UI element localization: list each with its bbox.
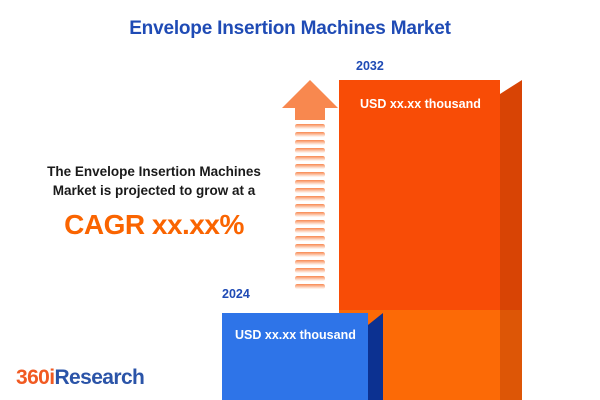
cagr-statement-line1: The Envelope Insertion Machines bbox=[47, 164, 261, 179]
logo-text-360i: 360i bbox=[16, 366, 54, 389]
logo-text-research: Research bbox=[54, 366, 144, 389]
bar-2024-front-face bbox=[222, 313, 368, 400]
bar-2024-value-label: USD xx.xx thousand bbox=[235, 328, 356, 342]
cagr-statement: The Envelope Insertion Machines Market i… bbox=[18, 162, 290, 241]
infographic-canvas: Envelope Insertion Machines Market The E… bbox=[0, 0, 600, 400]
bar-2032-value-label: USD xx.xx thousand bbox=[360, 97, 481, 111]
bar-label-2032: 2032 bbox=[356, 59, 384, 73]
page-title: Envelope Insertion Machines Market bbox=[0, 18, 580, 40]
brand-logo: 360iResearch bbox=[16, 366, 144, 390]
cagr-value: CAGR xx.xx% bbox=[18, 209, 290, 241]
bar-2024[interactable]: USD xx.xx thousand bbox=[222, 313, 383, 400]
bar-2024-side-face bbox=[368, 313, 383, 400]
cagr-statement-lead: The Envelope Insertion Machines Market i… bbox=[18, 162, 290, 200]
bar-label-2024: 2024 bbox=[222, 287, 250, 301]
bar-2032-side-lower-face bbox=[500, 310, 522, 400]
up-arrow-icon bbox=[281, 79, 339, 289]
cagr-statement-line2: Market is projected to grow at a bbox=[53, 183, 256, 198]
